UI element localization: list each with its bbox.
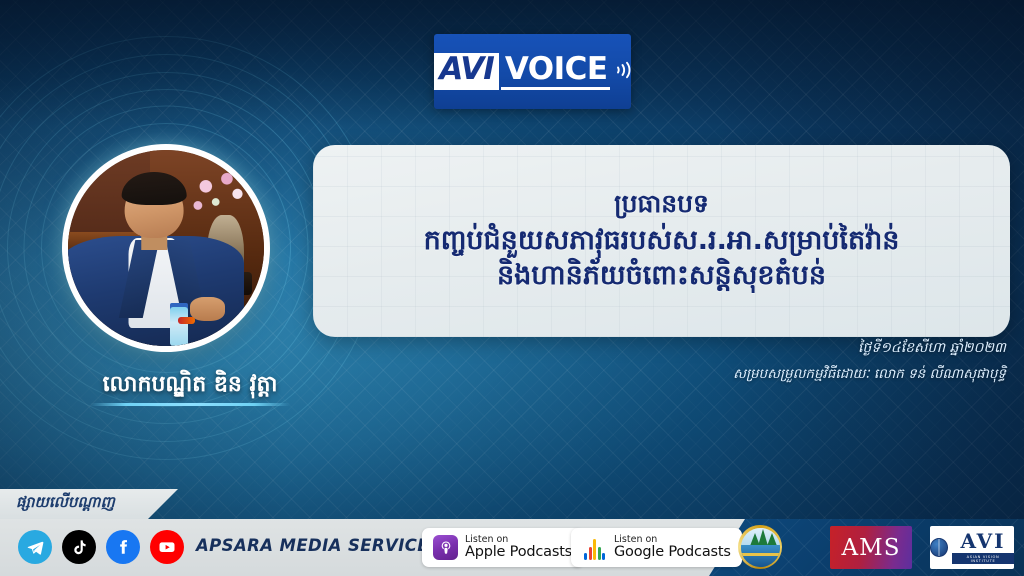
- apsara-media-services-label: APSARA MEDIA SERVICES: [196, 536, 441, 555]
- speaker-underline: [90, 403, 290, 406]
- avatar: [62, 144, 270, 352]
- broadcast-meta: ថ្ងៃទី១៤ខែសីហា ឆ្នាំ២០២៣ សម្របសម្រួលកម្ម…: [536, 338, 1006, 385]
- google-podcasts-badge[interactable]: Listen on Google Podcasts: [571, 528, 742, 567]
- title-line-main-1: កញ្ចប់ជំនួយសភាវុធរបស់ស.រ.អា.សម្រាប់តៃវ៉ា…: [335, 224, 988, 259]
- apple-badge-main-text: Apple Podcasts: [465, 545, 572, 560]
- title-panel: ប្រធានបទ កញ្ចប់ជំនួយសភាវុធរបស់ស.រ.អា.សម្…: [313, 145, 1010, 337]
- ams-logo: AMS: [830, 526, 912, 569]
- broadcast-channels-label: ផ្សាយលើបណ្តាញ: [16, 493, 115, 515]
- ministry-emblem-logo: [738, 525, 782, 569]
- ams-wordmark: AMS: [842, 535, 901, 561]
- google-badge-main-text: Google Podcasts: [614, 545, 731, 560]
- avi-institute-subtitle: ASIAN VISION INSTITUTE: [952, 553, 1014, 564]
- apple-podcasts-icon: [433, 535, 458, 560]
- speaker-portrait-frame: [62, 144, 270, 352]
- social-icons-group: [18, 530, 184, 564]
- voice-wordmark: VOICE: [501, 53, 610, 90]
- globe-icon: [930, 538, 948, 557]
- tiktok-icon[interactable]: [62, 530, 96, 564]
- avi-wordmark: AVI: [434, 53, 498, 90]
- speaker-name: លោកបណ្ឌិត ឌិន វុត្តា: [60, 372, 320, 398]
- telegram-icon[interactable]: [18, 530, 52, 564]
- speaker-block: លោកបណ្ឌិត ឌិន វុត្តា: [60, 372, 320, 406]
- avi-voice-logo: AVI VOICE: [434, 34, 631, 109]
- google-podcasts-icon: [582, 535, 607, 560]
- avi-institute-wordmark: AVI: [961, 531, 1006, 551]
- facebook-icon[interactable]: [106, 530, 140, 564]
- youtube-icon[interactable]: [150, 530, 184, 564]
- broadcast-date: ថ្ងៃទី១៤ខែសីហា ឆ្នាំ២០២៣: [536, 338, 1006, 360]
- title-line-main-2: និងហានិភ័យចំពោះសន្តិសុខតំបន់: [335, 259, 988, 294]
- apple-podcasts-badge[interactable]: Listen on Apple Podcasts: [422, 528, 583, 567]
- title-line-topic: ប្រធានបទ: [335, 188, 988, 220]
- sound-wave-icon: [615, 61, 631, 83]
- avi-institute-logo: AVI ASIAN VISION INSTITUTE: [930, 526, 1014, 569]
- broadcast-title-card: AVI VOICE: [0, 0, 1024, 576]
- broadcast-host-credit: សម្របសម្រួលកម្មវិធីដោយៈ លោក ទន់ លីណាសុផា…: [536, 364, 1006, 385]
